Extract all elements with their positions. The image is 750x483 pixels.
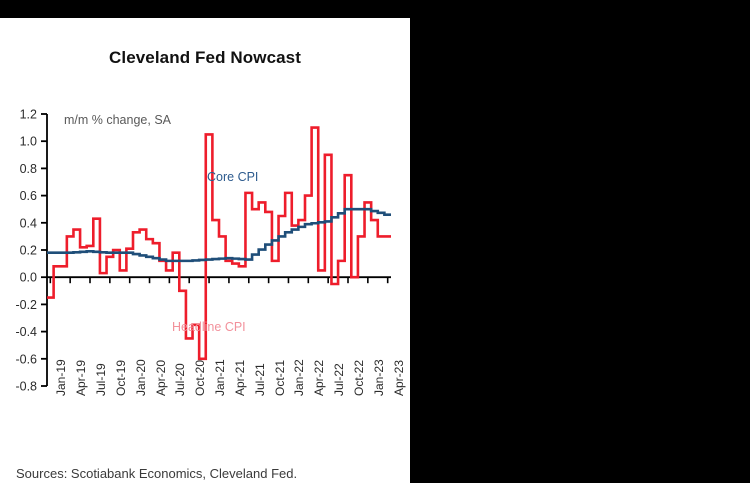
y-axis-tick-label: 0.2	[20, 244, 37, 258]
x-axis-tick-label: Oct-21	[273, 360, 287, 396]
x-axis-tick-label: Jan-22	[292, 359, 306, 396]
x-axis-tick-label: Apr-23	[392, 360, 406, 396]
y-axis-tick-label: -0.2	[15, 298, 37, 312]
chart-plot-area: 1.21.00.80.60.40.20.0-0.2-0.4-0.6-0.8	[0, 86, 410, 406]
y-axis-units-label: m/m % change, SA	[64, 113, 171, 127]
x-axis-tick-label: Oct-22	[352, 360, 366, 396]
x-axis-tick-label: Oct-20	[193, 360, 207, 396]
x-axis-tick-label: Oct-19	[114, 360, 128, 396]
sources-note: Sources: Scotiabank Economics, Cleveland…	[16, 466, 297, 481]
x-axis-tick-label: Jan-19	[54, 359, 68, 396]
page-title: Cleveland Fed Nowcast	[0, 48, 410, 68]
x-axis-tick-label: Jul-21	[253, 363, 267, 396]
x-axis-tick-labels: Jan-19Apr-19Jul-19Oct-19Jan-20Apr-20Jul-…	[0, 394, 410, 456]
chart-card: Cleveland Fed Nowcast 1.21.00.80.60.40.2…	[0, 18, 410, 483]
y-axis-tick-label: 1.0	[20, 135, 37, 149]
screenshot-root: Cleveland Fed Nowcast 1.21.00.80.60.40.2…	[0, 0, 750, 483]
x-axis-tick-label: Jan-20	[134, 359, 148, 396]
y-axis-tick-label: -0.8	[15, 380, 37, 394]
x-axis-tick-label: Apr-22	[312, 360, 326, 396]
x-axis-tick-label: Jul-19	[94, 363, 108, 396]
legend-label-headline-cpi: Headline CPI	[172, 320, 246, 334]
x-axis-tick-label: Apr-19	[74, 360, 88, 396]
divider	[16, 458, 394, 459]
y-axis-tick-label: -0.6	[15, 352, 37, 366]
y-axis-tick-label: 0.8	[20, 162, 37, 176]
y-axis-tick-label: 1.2	[20, 108, 37, 122]
y-axis-tick-label: 0.4	[20, 216, 37, 230]
x-axis-tick-label: Jan-21	[213, 359, 227, 396]
y-axis-tick-label: -0.4	[15, 325, 37, 339]
y-axis-tick-label: 0.6	[20, 189, 37, 203]
x-axis-tick-label: Jan-23	[372, 359, 386, 396]
y-axis-tick-label: 0.0	[20, 271, 37, 285]
x-axis-tick-label: Jul-22	[332, 363, 346, 396]
chart-svg: 1.21.00.80.60.40.20.0-0.2-0.4-0.6-0.8	[0, 86, 410, 406]
x-axis-tick-label: Apr-20	[154, 360, 168, 396]
x-axis-tick-label: Jul-20	[173, 363, 187, 396]
legend-label-core-cpi: Core CPI	[207, 170, 258, 184]
x-axis-tick-label: Apr-21	[233, 360, 247, 396]
